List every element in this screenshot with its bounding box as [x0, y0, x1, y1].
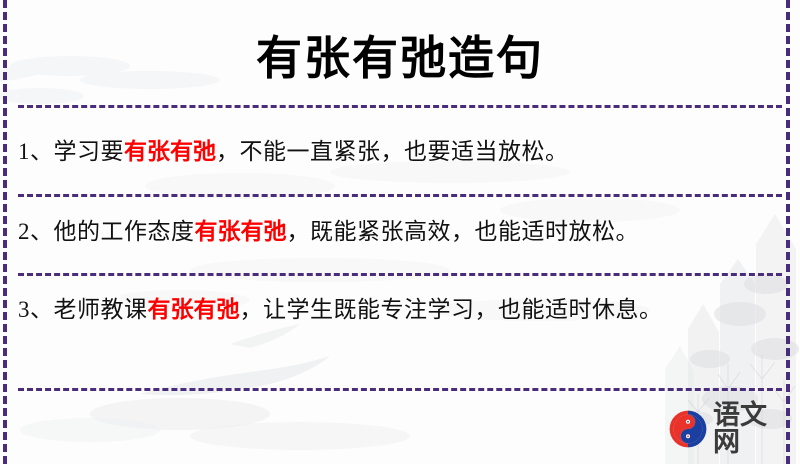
sentence-2-number: 2、 — [18, 219, 54, 244]
sentence-item-3: 3、老师教课有张有弛，让学生既能专注学习，也能适时休息。 — [18, 290, 778, 330]
sentence-3-text-before: 老师教课 — [54, 297, 148, 322]
sentence-item-2: 2、他的工作态度有张有弛，既能紧张高效，也能适时放松。 — [18, 212, 778, 252]
sentence-1-text-after: ，不能一直紧张，也要适当放松。 — [216, 139, 569, 164]
sentence-2-text-after: ，既能紧张高效，也能适时放松。 — [287, 219, 640, 244]
sentence-2-keyword: 有张有弛 — [195, 219, 287, 244]
divider-above-sentence-1 — [18, 105, 782, 108]
sentence-1-text-before: 学习要 — [54, 139, 125, 164]
site-logo-text: 语文网 — [713, 402, 788, 456]
sentence-1-keyword: 有张有弛 — [124, 139, 216, 164]
sentence-1-number: 1、 — [18, 139, 54, 164]
sentence-worksheet-page: 有张有弛造句 1、学习要有张有弛，不能一直紧张，也要适当放松。 2、他的工作态度… — [0, 0, 800, 464]
site-logo[interactable]: 语文网 — [668, 406, 788, 452]
yin-yang-circle-logo-icon — [668, 409, 708, 449]
page-title: 有张有弛造句 — [0, 22, 800, 88]
divider-between-sentence-1-and-2 — [18, 194, 782, 197]
sentence-3-text-after: ，让学生既能专注学习，也能适时休息。 — [240, 297, 663, 322]
divider-below-sentence-3 — [18, 388, 782, 391]
divider-between-sentence-2-and-3 — [18, 273, 782, 276]
sentence-3-keyword: 有张有弛 — [148, 297, 240, 322]
sentence-2-text-before: 他的工作态度 — [54, 219, 195, 244]
sentence-3-number: 3、 — [18, 297, 54, 322]
sentence-item-1: 1、学习要有张有弛，不能一直紧张，也要适当放松。 — [18, 132, 778, 172]
